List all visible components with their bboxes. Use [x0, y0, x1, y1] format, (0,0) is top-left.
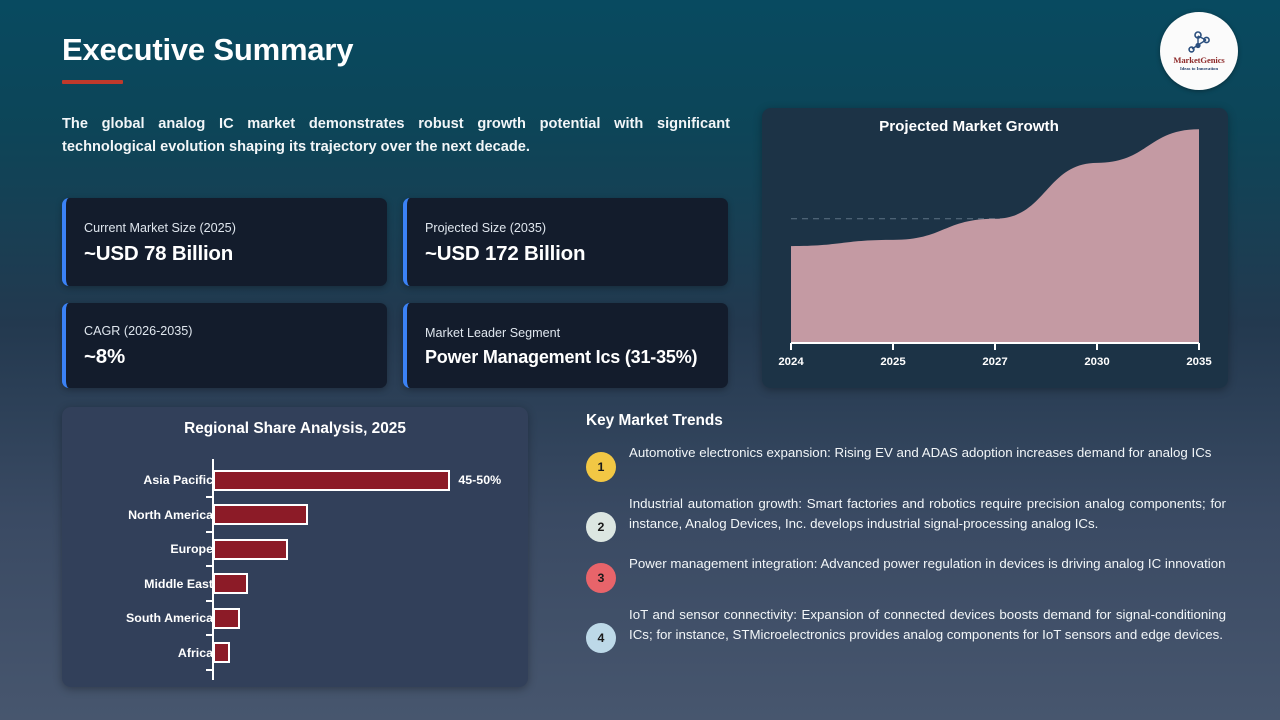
y-axis-tick — [206, 531, 213, 533]
trend-text: Automotive electronics expansion: Rising… — [629, 443, 1226, 463]
trend-item: 1Automotive electronics expansion: Risin… — [586, 443, 1226, 482]
bar-rect — [213, 642, 230, 663]
bar-row: South America — [62, 607, 528, 629]
trend-text: IoT and sensor connectivity: Expansion o… — [629, 605, 1226, 645]
regional-share-barchart: Asia Pacific45-50%North AmericaEuropeMid… — [62, 459, 528, 679]
metric-card-market-leader-segment: Market Leader Segment Power Management I… — [403, 303, 728, 388]
x-axis-tick-label: 2025 — [880, 356, 905, 368]
x-axis-tick-label: 2030 — [1084, 356, 1109, 368]
trend-number-badge: 1 — [586, 452, 616, 482]
bar-category-label: South America — [43, 611, 213, 625]
logo-name: MarketGenics — [1173, 55, 1224, 65]
metric-value: ~8% — [84, 345, 369, 369]
metric-card-current-market-size: Current Market Size (2025) ~USD 78 Billi… — [62, 198, 387, 286]
metric-value: Power Management Ics (31-35%) — [425, 347, 710, 368]
metric-label: Current Market Size (2025) — [84, 221, 369, 235]
trends-list: 1Automotive electronics expansion: Risin… — [586, 443, 1226, 653]
trend-item: 2Industrial automation growth: Smart fac… — [586, 494, 1226, 542]
trend-item: 3Power management integration: Advanced … — [586, 554, 1226, 593]
brand-logo: MarketGenics Ideas to Innovation — [1160, 12, 1238, 90]
x-axis-tick-label: 2024 — [778, 356, 803, 368]
chart-title: Regional Share Analysis, 2025 — [184, 420, 406, 438]
bar-row: Europe — [62, 538, 528, 560]
projected-market-growth-areachart — [762, 108, 1228, 388]
bar-rect — [213, 573, 248, 594]
x-axis-tick-label: 2027 — [982, 356, 1007, 368]
bar-category-label: Middle East — [43, 577, 213, 591]
molecule-node-icon — [1187, 31, 1211, 53]
metric-card-projected-size: Projected Size (2035) ~USD 172 Billion — [403, 198, 728, 286]
bar-value-label: 45-50% — [458, 473, 501, 487]
title-underline-rule — [62, 80, 123, 84]
metric-label: Projected Size (2035) — [425, 221, 710, 235]
area-series-market-size — [791, 129, 1199, 343]
bar-row: Middle East — [62, 573, 528, 595]
bar-category-label: Asia Pacific — [43, 473, 213, 487]
bar-rect — [213, 539, 288, 560]
intro-paragraph: The global analog IC market demonstrates… — [62, 113, 730, 158]
y-axis-tick — [206, 496, 213, 498]
bar-rect — [213, 608, 240, 629]
metric-value: ~USD 172 Billion — [425, 242, 710, 266]
key-market-trends-section: Key Market Trends 1Automotive electronic… — [586, 412, 1226, 665]
trend-text: Power management integration: Advanced p… — [629, 554, 1226, 574]
y-axis-tick — [206, 669, 213, 671]
trend-text: Industrial automation growth: Smart fact… — [629, 494, 1226, 534]
trend-number-badge: 3 — [586, 563, 616, 593]
metric-label: CAGR (2026-2035) — [84, 324, 369, 338]
bar-category-label: Europe — [43, 542, 213, 556]
bar-category-label: North America — [43, 508, 213, 522]
bar-rect — [213, 504, 308, 525]
y-axis-tick — [206, 565, 213, 567]
trend-number-badge: 4 — [586, 623, 616, 653]
trend-item: 4IoT and sensor connectivity: Expansion … — [586, 605, 1226, 653]
metric-label: Market Leader Segment — [425, 326, 710, 340]
bar-row: Asia Pacific45-50% — [62, 469, 528, 491]
trend-number-badge: 2 — [586, 512, 616, 542]
x-axis-ticks — [791, 343, 1199, 350]
bar-row: Africa — [62, 642, 528, 664]
projected-market-growth-panel: Projected Market Growth 2024202520272030… — [762, 108, 1228, 388]
metric-value: ~USD 78 Billion — [84, 242, 369, 266]
page-title: Executive Summary — [62, 34, 353, 67]
bar-row: North America — [62, 504, 528, 526]
x-axis-tick-label: 2035 — [1186, 356, 1211, 368]
logo-tagline: Ideas to Innovation — [1180, 66, 1218, 71]
y-axis-tick — [206, 634, 213, 636]
metric-card-cagr: CAGR (2026-2035) ~8% — [62, 303, 387, 388]
header: Executive Summary — [62, 34, 353, 84]
bar-category-label: Africa — [43, 646, 213, 660]
y-axis-tick — [206, 600, 213, 602]
section-title: Key Market Trends — [586, 412, 1226, 430]
regional-share-panel: Regional Share Analysis, 2025 Asia Pacif… — [62, 407, 528, 687]
bar-rect — [213, 470, 450, 491]
